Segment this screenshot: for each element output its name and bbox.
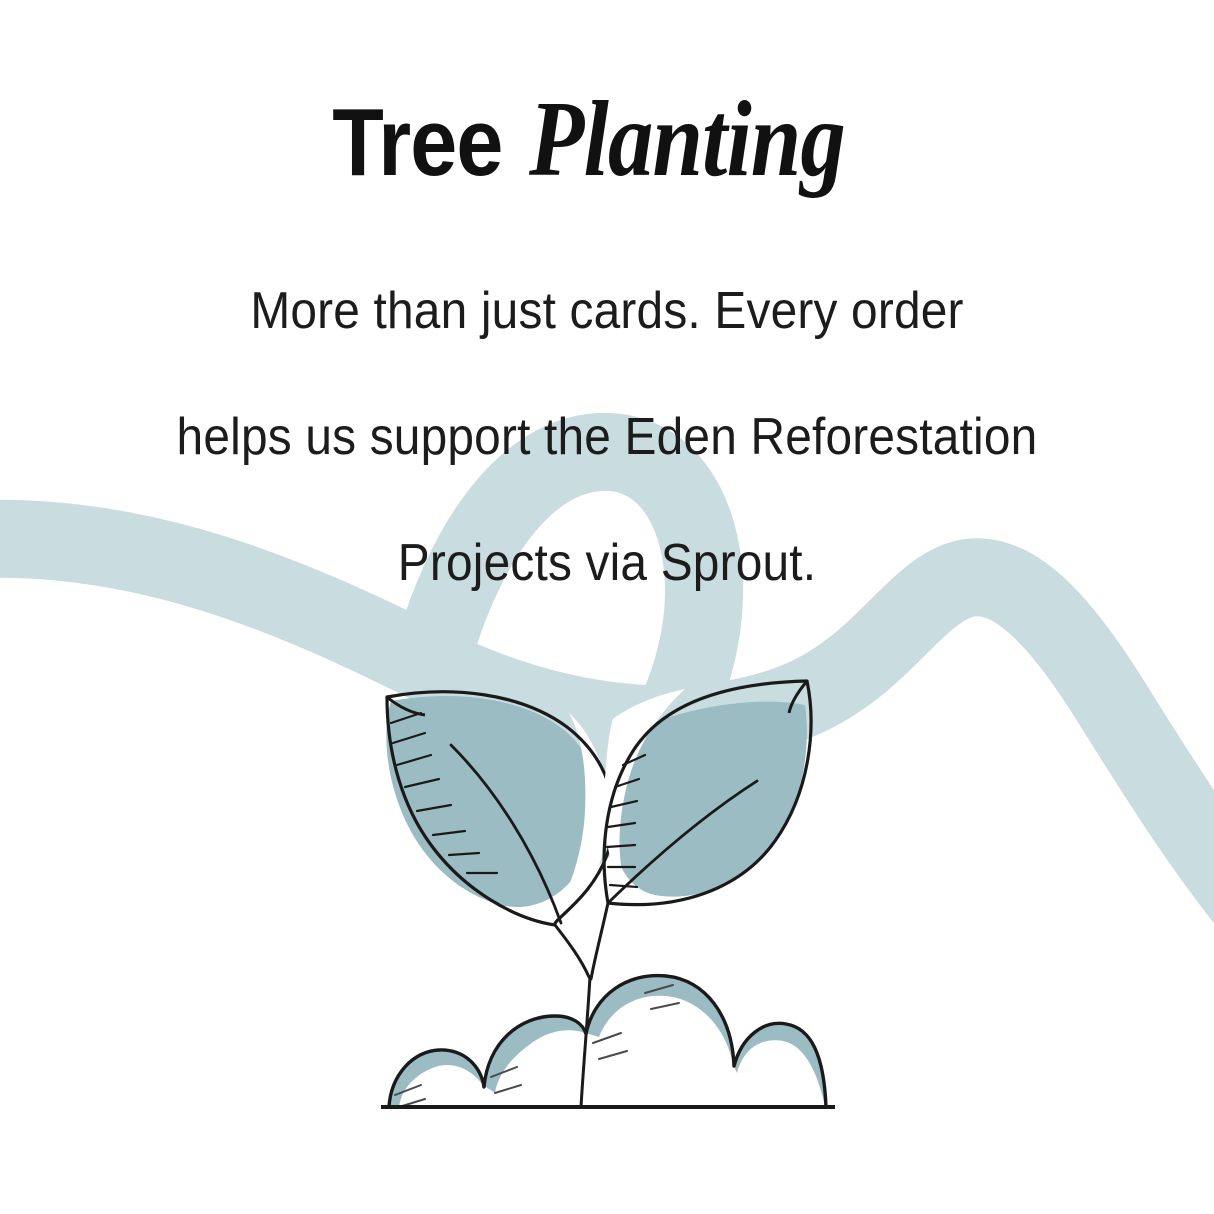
page-title-word-regular: Tree bbox=[332, 95, 502, 191]
seedling-sprout-illustration bbox=[355, 655, 860, 1130]
page-title: Tree Planting bbox=[0, 0, 1214, 194]
leaf-right-icon bbox=[604, 681, 811, 905]
body-copy-line: helps us support the Eden Reforestation bbox=[49, 374, 1166, 500]
body-copy-line: Projects via Sprout. bbox=[49, 500, 1166, 626]
tree-planting-promo-graphic: Tree Planting More than just cards. Ever… bbox=[0, 0, 1214, 1214]
text-block: Tree Planting More than just cards. Ever… bbox=[0, 0, 1214, 626]
soil-mound-icon bbox=[389, 976, 826, 1107]
leaf-left-icon bbox=[386, 692, 613, 925]
page-title-word-italic: Planting bbox=[529, 86, 845, 194]
body-copy: More than just cards. Every order helps … bbox=[0, 194, 1214, 626]
body-copy-line: More than just cards. Every order bbox=[49, 248, 1166, 374]
